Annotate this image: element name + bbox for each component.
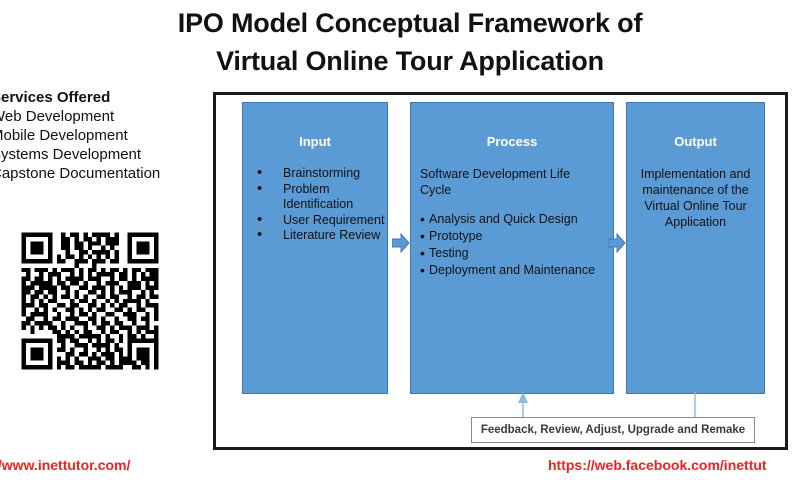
right-arrow-icon xyxy=(392,233,410,253)
page-title: IPO Model Conceptual Framework of Virtua… xyxy=(110,4,710,80)
output-box-title: Output xyxy=(627,134,764,150)
input-bullet-item: Problem Identification xyxy=(257,182,387,213)
ipo-diagram-frame: Input Brainstorming Problem Identificati… xyxy=(213,92,788,450)
output-description: Implementation and maintenance of the Vi… xyxy=(635,166,756,230)
input-bullet-item: Brainstorming xyxy=(257,166,387,182)
process-bullet-item: Analysis and Quick Design xyxy=(420,211,613,228)
services-offered-panel: Services Offered Web Development Mobile … xyxy=(0,88,201,183)
output-box: Output Implementation and maintenance of… xyxy=(626,102,765,394)
service-item-web-development: Web Development xyxy=(0,107,201,126)
input-bullet-list: Brainstorming Problem Identification Use… xyxy=(243,166,387,244)
right-arrow-icon xyxy=(608,233,626,253)
process-bullet-item: Testing xyxy=(420,245,613,262)
facebook-url-link[interactable]: https://web.facebook.com/inettut xyxy=(548,457,767,473)
process-intro-text: Software Development Life Cycle xyxy=(420,166,590,198)
process-box: Process Software Development Life Cycle … xyxy=(410,102,614,394)
input-bullet-item: Literature Review xyxy=(257,228,387,244)
page-title-line-1: IPO Model Conceptual Framework of xyxy=(110,4,710,42)
page-title-line-2: Virtual Online Tour Application xyxy=(110,42,710,80)
service-item-systems-development: Systems Development xyxy=(0,145,201,164)
process-bullet-item: Prototype xyxy=(420,228,613,245)
qr-code-icon xyxy=(10,228,170,374)
input-box-title: Input xyxy=(243,134,387,150)
process-bullet-item: Deployment and Maintenance xyxy=(420,262,613,279)
feedback-caption-box: Feedback, Review, Adjust, Upgrade and Re… xyxy=(471,417,755,443)
process-bullet-list: Analysis and Quick Design Prototype Test… xyxy=(411,211,613,279)
service-item-mobile-development: Mobile Development xyxy=(0,126,201,145)
input-bullet-item: User Requirement xyxy=(257,213,387,229)
website-url-link[interactable]: ps://www.inettutor.com/ xyxy=(0,457,130,473)
feedback-caption-text: Feedback, Review, Adjust, Upgrade and Re… xyxy=(481,424,745,436)
services-offered-heading: Services Offered xyxy=(0,88,201,107)
process-box-title: Process xyxy=(411,134,613,150)
service-item-capstone-documentation: Capstone Documentation xyxy=(0,164,201,183)
input-box: Input Brainstorming Problem Identificati… xyxy=(242,102,388,394)
